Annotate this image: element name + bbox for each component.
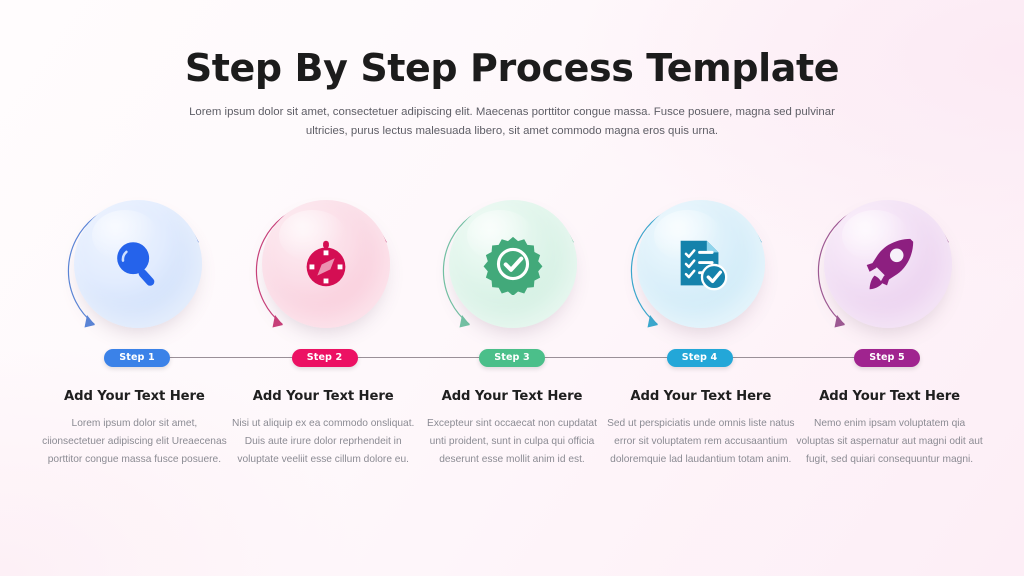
caption-body-1: Lorem ipsum dolor sit amet, ciionsectetu… [40, 415, 229, 469]
circle-sphere-1 [74, 200, 202, 328]
step-caption-3: Add Your Text Here Excepteur sint occaec… [418, 389, 607, 469]
checklist-icon [670, 233, 732, 295]
circle-sphere-2 [262, 200, 390, 328]
caption-title-2: Add Your Text Here [229, 389, 418, 404]
step-caption-1: Add Your Text Here Lorem ipsum dolor sit… [40, 389, 229, 469]
step-badge-4[interactable]: Step 4 [667, 349, 733, 367]
step-item-3[interactable] [423, 188, 601, 340]
step-badges-row: Step 1 Step 2 Step 3 Step 4 Step 5 [0, 349, 1024, 367]
circle-sphere-5 [824, 200, 952, 328]
step-circles-row [0, 188, 1024, 340]
circle-sphere-3 [449, 200, 577, 328]
page-title: Step By Step Process Template [0, 47, 1024, 90]
circle-sphere-4 [637, 200, 765, 328]
step-caption-2: Add Your Text Here Nisi ut aliquip ex ea… [229, 389, 418, 469]
badge-cell-4: Step 4 [611, 349, 789, 367]
caption-body-5: Nemo enim ipsam voluptatem qia voluptas … [795, 415, 984, 469]
caption-title-5: Add Your Text Here [795, 389, 984, 404]
caption-title-1: Add Your Text Here [40, 389, 229, 404]
badge-cell-1: Step 1 [48, 349, 226, 367]
step-badge-3[interactable]: Step 3 [479, 349, 545, 367]
step-caption-5: Add Your Text Here Nemo enim ipsam volup… [795, 389, 984, 469]
caption-body-4: Sed ut perspiciatis unde omnis liste nat… [606, 415, 795, 469]
step-item-2[interactable] [236, 188, 414, 340]
badge-cell-2: Step 2 [236, 349, 414, 367]
step-badge-1[interactable]: Step 1 [104, 349, 170, 367]
gear-check-icon [482, 233, 544, 295]
caption-title-4: Add Your Text Here [606, 389, 795, 404]
badge-cell-3: Step 3 [423, 349, 601, 367]
page-subtitle: Lorem ipsum dolor sit amet, consectetuer… [176, 103, 848, 142]
step-item-1[interactable] [48, 188, 226, 340]
slide-canvas: Step By Step Process Template Lorem ipsu… [0, 0, 1024, 576]
slide-header: Step By Step Process Template Lorem ipsu… [0, 0, 1024, 142]
step-badge-2[interactable]: Step 2 [292, 349, 358, 367]
step-item-4[interactable] [611, 188, 789, 340]
circle-wrap-5 [798, 188, 976, 340]
magnifier-icon [107, 233, 169, 295]
circle-wrap-3 [423, 188, 601, 340]
rocket-icon [857, 233, 919, 295]
step-badge-5[interactable]: Step 5 [854, 349, 920, 367]
caption-body-2: Nisi ut aliquip ex ea commodo onsliquat.… [229, 415, 418, 469]
caption-title-3: Add Your Text Here [418, 389, 607, 404]
compass-icon [295, 233, 357, 295]
step-caption-4: Add Your Text Here Sed ut perspiciatis u… [606, 389, 795, 469]
step-rail: Step 1 Step 2 Step 3 Step 4 Step 5 [0, 349, 1024, 367]
circle-wrap-2 [236, 188, 414, 340]
step-item-5[interactable] [798, 188, 976, 340]
circle-wrap-1 [48, 188, 226, 340]
circle-wrap-4 [611, 188, 789, 340]
caption-body-3: Excepteur sint occaecat non cupdatat unt… [418, 415, 607, 469]
step-captions-row: Add Your Text Here Lorem ipsum dolor sit… [0, 389, 1024, 469]
badge-cell-5: Step 5 [798, 349, 976, 367]
